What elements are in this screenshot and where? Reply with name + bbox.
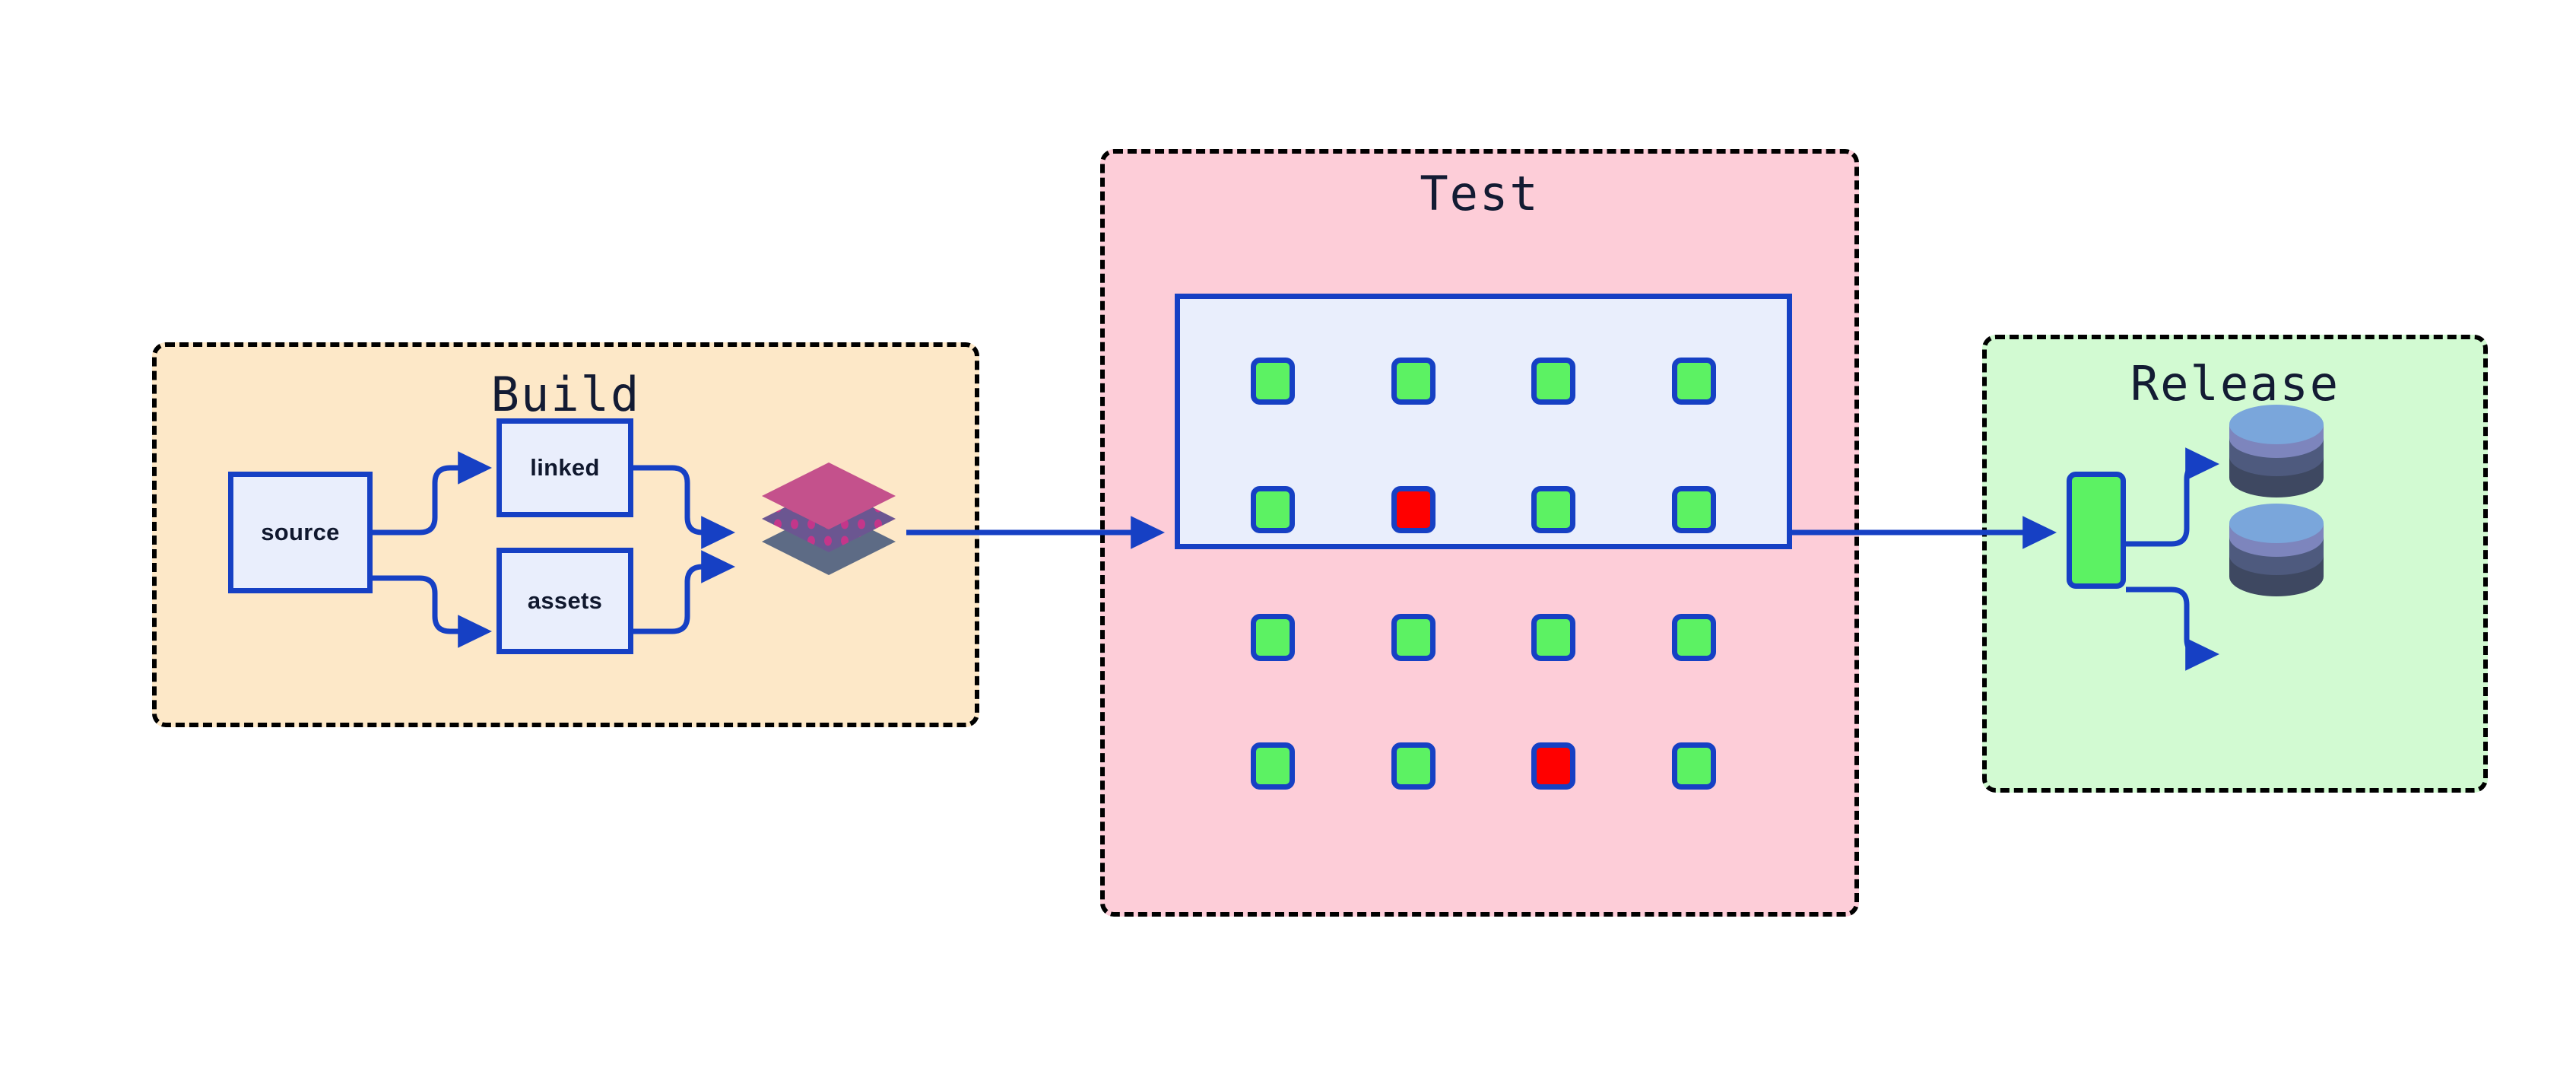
build-node-assets-label: assets — [528, 587, 602, 615]
test-group-title: Test — [1105, 170, 1854, 218]
test-cell-pass[interactable] — [1391, 742, 1436, 790]
build-node-linked-label: linked — [530, 454, 599, 482]
build-group-title: Build — [157, 371, 975, 418]
test-cell-pass[interactable] — [1391, 358, 1436, 405]
database-icon[interactable] — [2228, 502, 2325, 596]
test-cell-pass[interactable] — [1251, 358, 1295, 405]
test-cell-fail[interactable] — [1391, 486, 1436, 533]
release-group-title: Release — [1987, 361, 2483, 408]
test-cell-pass[interactable] — [1531, 358, 1575, 405]
test-results-grid — [1175, 294, 1792, 853]
test-cell-pass[interactable] — [1531, 486, 1575, 533]
test-cell-pass[interactable] — [1672, 614, 1716, 661]
build-node-source[interactable]: source — [228, 472, 373, 593]
build-node-source-label: source — [261, 519, 339, 546]
test-cell-pass[interactable] — [1672, 742, 1716, 790]
layers-icon — [753, 449, 905, 601]
diagram-canvas: Build source linked assets Test — [0, 0, 2576, 1068]
test-cell-pass[interactable] — [1672, 358, 1716, 405]
test-cell-pass[interactable] — [1251, 486, 1295, 533]
test-cell-pass[interactable] — [1531, 614, 1575, 661]
test-cell-fail[interactable] — [1531, 742, 1575, 790]
build-node-assets[interactable]: assets — [496, 548, 633, 654]
test-cell-pass[interactable] — [1672, 486, 1716, 533]
release-artifact-bar[interactable] — [2067, 472, 2126, 589]
test-cell-pass[interactable] — [1251, 742, 1295, 790]
database-icon[interactable] — [2228, 403, 2325, 497]
test-cell-pass[interactable] — [1251, 614, 1295, 661]
test-cell-pass[interactable] — [1391, 614, 1436, 661]
build-node-linked[interactable]: linked — [496, 418, 633, 517]
